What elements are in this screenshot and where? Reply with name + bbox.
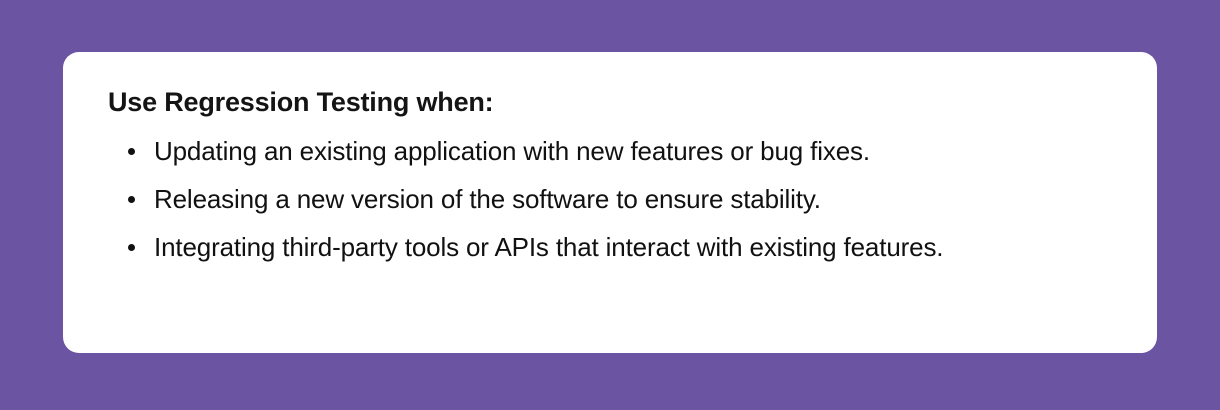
bullet-list: Updating an existing application with ne… <box>108 127 1129 271</box>
bullet-dot-icon <box>128 196 135 203</box>
list-item: Releasing a new version of the software … <box>108 175 1129 223</box>
page-title: Use Regression Testing when: <box>108 85 1129 119</box>
bullet-dot-icon <box>128 244 135 251</box>
list-item: Integrating third-party tools or APIs th… <box>108 223 1129 271</box>
slide-background: Use Regression Testing when: Updating an… <box>0 0 1220 410</box>
card-body: Use Regression Testing when: Updating an… <box>108 85 1129 271</box>
list-item-label: Releasing a new version of the software … <box>154 175 1069 223</box>
list-item-label: Integrating third-party tools or APIs th… <box>154 223 1069 271</box>
list-item-label: Updating an existing application with ne… <box>154 127 1069 175</box>
list-item: Updating an existing application with ne… <box>108 127 1129 175</box>
bullet-dot-icon <box>128 148 135 155</box>
content-card: Use Regression Testing when: Updating an… <box>63 52 1157 353</box>
